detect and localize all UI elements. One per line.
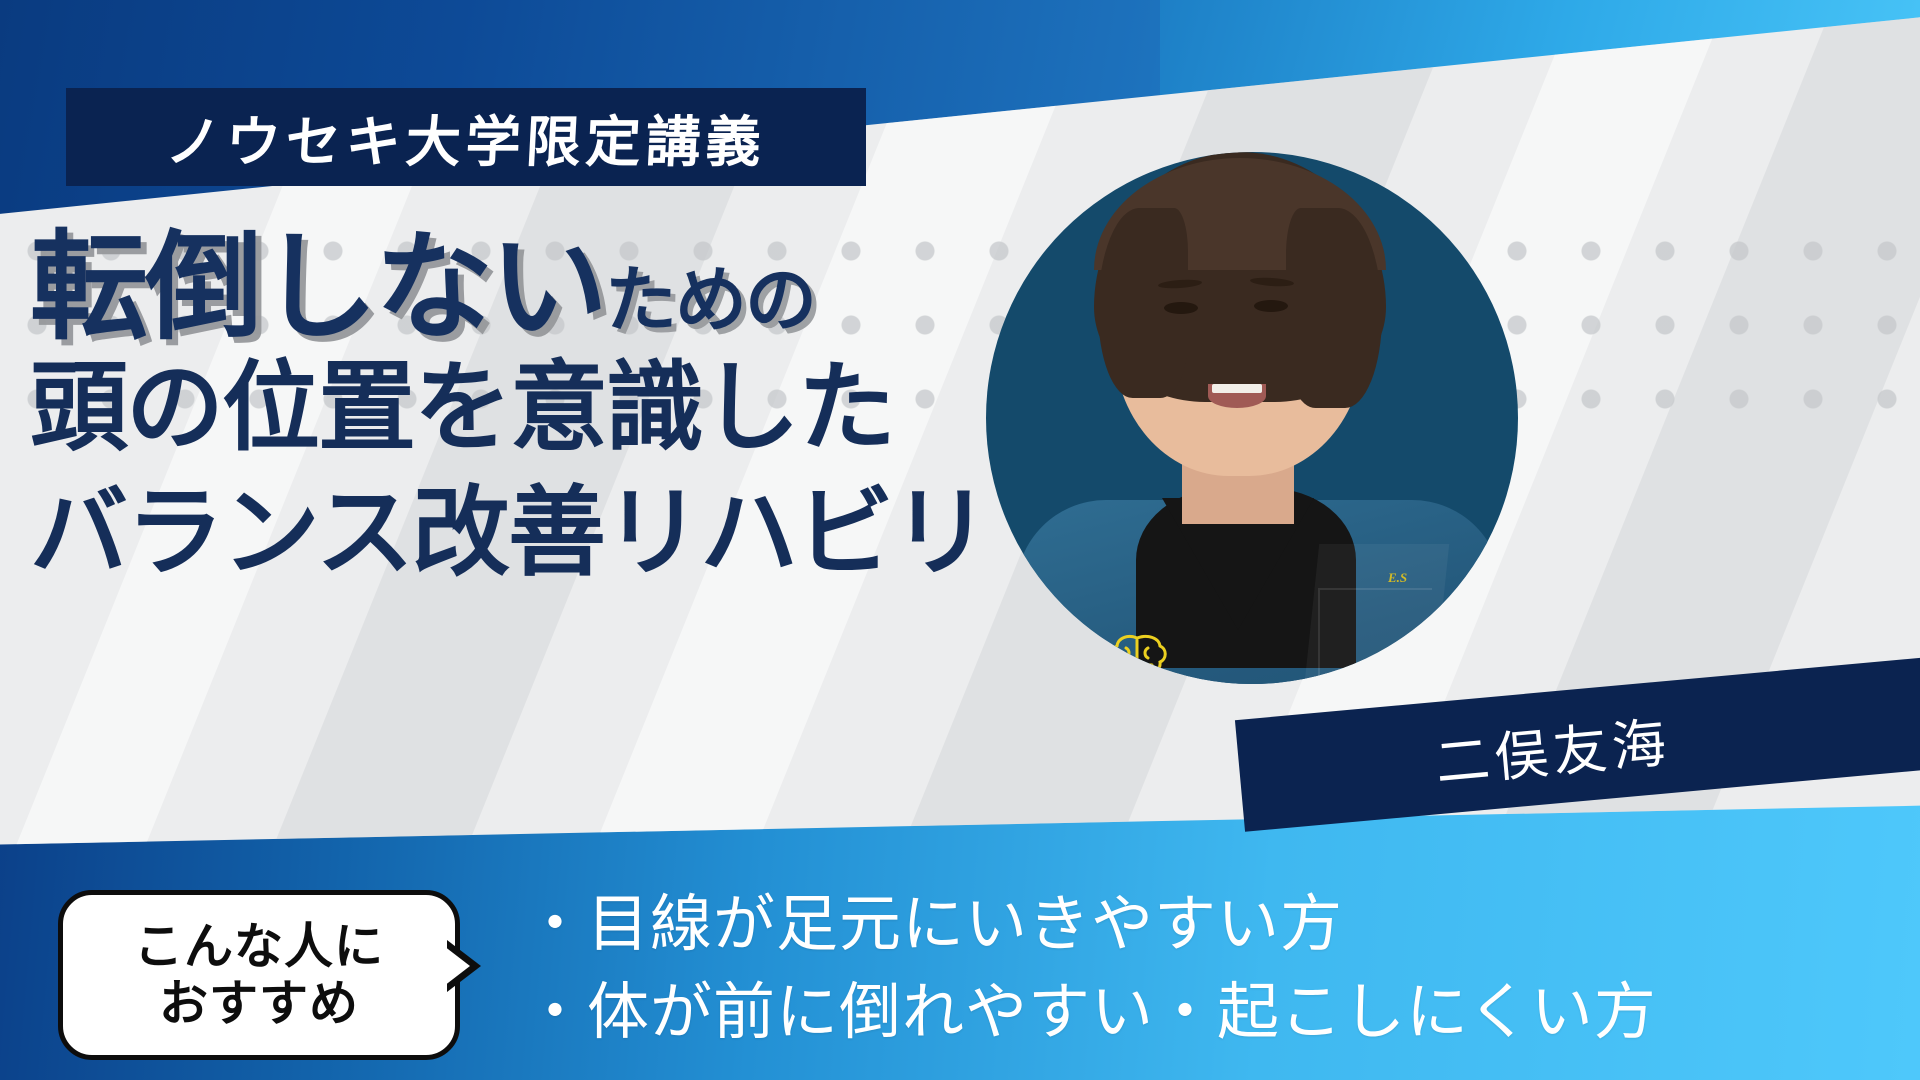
recommend-bubble: こんな人に おすすめ (58, 890, 460, 1060)
hair-bang-right (1286, 208, 1382, 408)
headline-line-3: バランス改善リハビリ (30, 471, 990, 596)
recommend-list: ・目線が足元にいきやすい方 ・体が前に倒れやすい・起こしにくい方 (524, 880, 1657, 1056)
headline-main-emphasis: 転倒しない (30, 228, 605, 346)
brain-icon (1106, 632, 1168, 684)
eye-left (1164, 302, 1198, 314)
recommend-bubble-line-1: こんな人に (134, 918, 384, 975)
course-banner-label: ノウセキ大学限定講義 (164, 97, 768, 177)
uniform-embroidery: E.S (1388, 570, 1407, 586)
headline-line-2: 頭の位置を意識した (30, 346, 990, 471)
list-item: ・体が前に倒れやすい・起こしにくい方 (524, 968, 1657, 1056)
eye-right (1254, 300, 1288, 312)
thumbnail-canvas: ノウセキ大学限定講義 転倒しない ための 頭の位置を意識した バランス改善リハビ… (0, 0, 1920, 1080)
presenter-name: 二俣友海 (1432, 698, 1674, 798)
presenter-figure: BRAIN NERVE NOUSEKIZUI E.S (986, 152, 1518, 684)
list-item: ・目線が足元にいきやすい方 (524, 880, 1657, 968)
presenter-portrait: BRAIN NERVE NOUSEKIZUI E.S (986, 152, 1518, 684)
course-banner: ノウセキ大学限定講義 (66, 88, 866, 186)
headline-main-suffix: ための (605, 264, 815, 346)
scrub-pocket (1318, 588, 1432, 684)
recommend-bubble-tail-inner (444, 946, 470, 986)
headline-block: 転倒しない ための 頭の位置を意識した バランス改善リハビリ (30, 228, 990, 597)
recommend-bubble-line-2: おすすめ (159, 975, 359, 1032)
headline-line-1: 転倒しない ための (30, 228, 990, 346)
teeth (1212, 384, 1262, 393)
